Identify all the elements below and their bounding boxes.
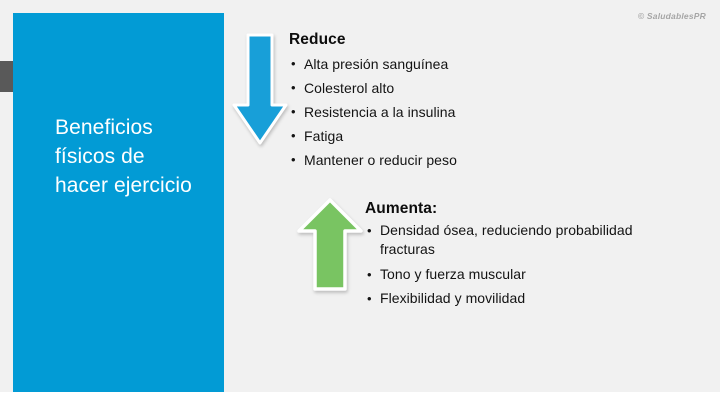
section-aumenta: Aumenta: Densidad ósea, reduciendo proba…	[365, 200, 655, 312]
section-reduce-heading: Reduce	[289, 31, 589, 49]
list-item: Alta presión sanguínea	[289, 52, 589, 76]
page-title: Beneficios físicos de hacer ejercicio	[55, 113, 235, 200]
list-item: Flexibilidad y movilidad	[365, 288, 655, 312]
list-item: Colesterol alto	[289, 76, 589, 100]
section-aumenta-list: Densidad ósea, reduciendo probabilidad f…	[365, 221, 655, 312]
list-item: Fatiga	[289, 124, 589, 148]
down-arrow-icon	[232, 33, 288, 145]
section-aumenta-heading: Aumenta:	[365, 200, 655, 218]
list-item: Resistencia a la insulina	[289, 100, 589, 124]
up-arrow-icon	[297, 197, 363, 292]
copyright-credit: © SaludablesPR	[638, 11, 706, 21]
list-item: Tono y fuerza muscular	[365, 264, 655, 288]
section-reduce-list: Alta presión sanguínea Colesterol alto R…	[289, 52, 589, 172]
title-panel: Beneficios físicos de hacer ejercicio	[13, 13, 224, 392]
list-item: Mantener o reducir peso	[289, 148, 589, 172]
section-reduce: Reduce Alta presión sanguínea Colesterol…	[289, 31, 589, 172]
slide: Beneficios físicos de hacer ejercicio © …	[0, 0, 720, 405]
list-item: Densidad ósea, reduciendo probabilidad f…	[365, 221, 655, 264]
